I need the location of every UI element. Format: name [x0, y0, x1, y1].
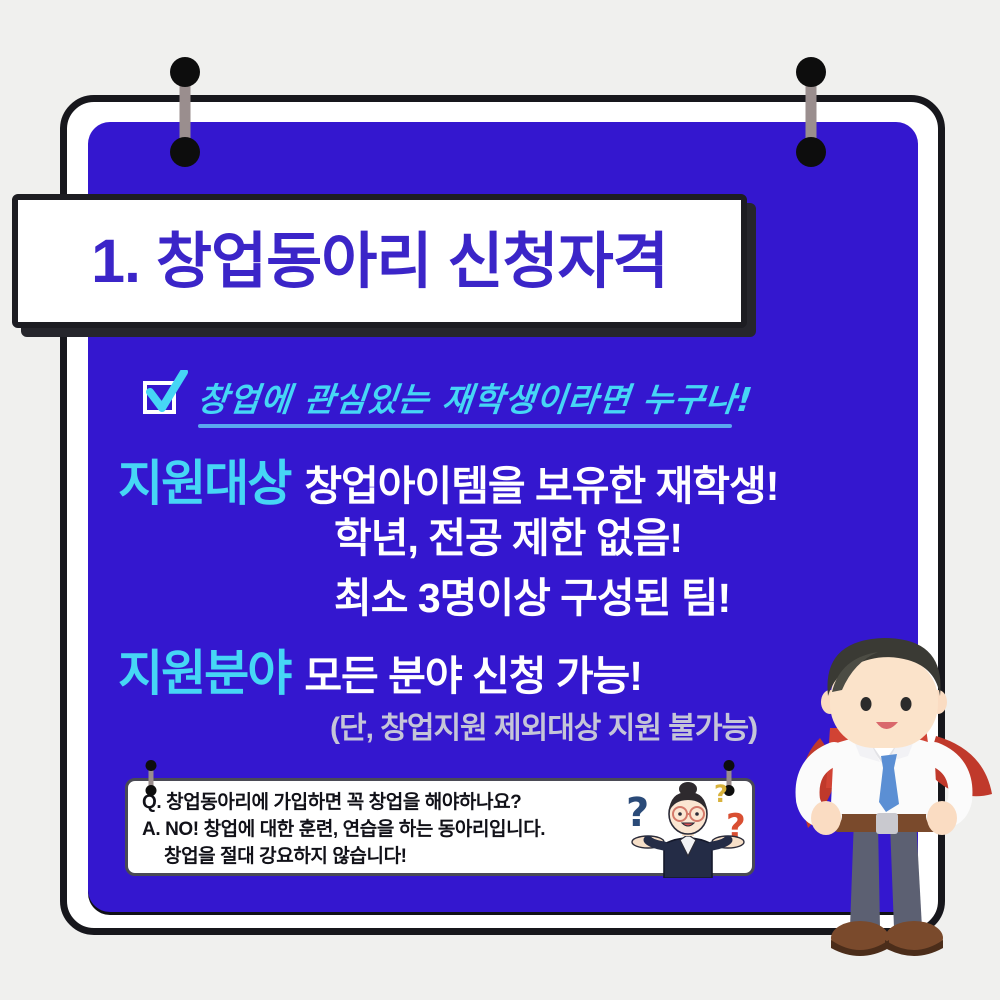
pin-cap-bottom	[796, 137, 826, 167]
pin-cap-top	[723, 760, 734, 771]
title-banner: 1. 창업동아리 신청자격	[12, 194, 747, 328]
qa-answer-line-2: 창업을 절대 강요하지 않습니다!	[142, 844, 545, 871]
businessman-with-red-cape-character	[768, 618, 1000, 978]
section-label: 지원분야	[118, 650, 290, 699]
pin-cap-top	[170, 57, 200, 87]
section-label: 지원대상	[118, 460, 290, 509]
poster-canvas: 1. 창업동아리 신청자격 창업에 관심있는 재학생이라면 누구나! 지원대상 …	[0, 0, 1000, 1000]
section-note: (단, 창업지원 제외대상 지원 불가능)	[330, 714, 757, 744]
woman-shrugging-with-question-marks-illustration: ? ? ?	[618, 782, 758, 878]
section-support-field: 지원분야 모든 분야 신청 가능!	[118, 650, 642, 699]
section-line: 모든 분야 신청 가능!	[304, 656, 642, 697]
pin-cap-bottom	[170, 137, 200, 167]
section-line: 최소 3명이상 구성된 팀!	[334, 578, 730, 619]
section-line: 학년, 전공 제한 없음!	[334, 518, 682, 559]
pin-cap-top	[145, 760, 156, 771]
section-support-target: 지원대상 창업아이템을 보유한 재학생!	[118, 460, 778, 509]
tagline-row: 창업에 관심있는 재학생이라면 누구나!	[140, 366, 760, 428]
pin-cap-bottom	[145, 785, 156, 796]
checkbox-checked-icon	[140, 375, 184, 419]
tagline-underline	[198, 424, 732, 428]
svg-text:?: ?	[714, 782, 728, 808]
page-title: 1. 창업동아리 신청자격	[91, 231, 668, 292]
svg-text:?: ?	[626, 790, 649, 836]
qa-question: Q. 창업동아리에 가입하면 꼭 창업을 해야하나요?	[142, 790, 545, 817]
hanging-pin-left	[177, 63, 193, 159]
pin-cap-top	[796, 57, 826, 87]
section-line: 창업아이템을 보유한 재학생!	[304, 466, 778, 507]
qa-answer-line-1: A. NO! 창업에 대한 훈련, 연습을 하는 동아리입니다.	[142, 817, 545, 844]
qa-box-pin-left	[145, 762, 156, 794]
tagline-text: 창업에 관심있는 재학생이라면 누구나!	[195, 373, 755, 421]
hanging-pin-right	[803, 63, 819, 159]
